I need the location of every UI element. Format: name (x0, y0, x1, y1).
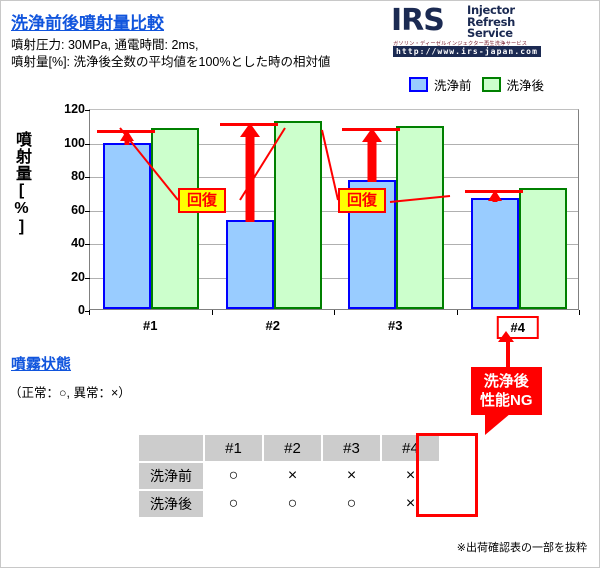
spray-section-title: 噴霧状態 (11, 353, 71, 374)
legend-swatch-before-icon (409, 77, 428, 92)
table-cell-before-1: ○ (204, 462, 263, 490)
x-axis-label-1: #1 (143, 318, 157, 333)
legend-item-before: 洗浄前 (409, 75, 472, 94)
y-axis-tick-label: 20 (71, 270, 85, 284)
callout-stem (506, 341, 510, 369)
legend-label-after: 洗浄後 (507, 75, 545, 94)
legend-swatch-after-icon (482, 77, 501, 92)
connector-line (120, 128, 178, 200)
page-subtitle: 噴射圧力: 30MPa, 通電時間: 2ms, 噴射量[%]: 洗浄後全数の平均… (11, 37, 330, 71)
table-cell-after-2: ○ (263, 490, 322, 518)
callout-line-1: 洗浄後 (480, 372, 533, 391)
spray-result-table: #1 #2 #3 #4 洗浄前 ○ × × × 洗浄後 ○ ○ ○ × (137, 433, 441, 519)
y-axis-tick-label: 0 (78, 303, 85, 317)
logo-mark-text: IRS (391, 6, 444, 36)
subtitle-line-1: 噴射圧力: 30MPa, 通電時間: 2ms, (11, 37, 330, 54)
legend-item-after: 洗浄後 (482, 75, 545, 94)
table-cell-before-3: × (322, 462, 381, 490)
table-header-4: #4 (381, 434, 440, 462)
logo-wordmark: Injector Refresh Service (467, 5, 515, 40)
table-row-label-after: 洗浄後 (138, 490, 204, 518)
connector-line (390, 196, 450, 202)
table-corner-cell (138, 434, 204, 462)
legend-label-before: 洗浄前 (434, 75, 472, 94)
chart-legend: 洗浄前 洗浄後 (409, 75, 544, 94)
logo-word-service: Service (467, 28, 515, 40)
y-axis-tick-label: 80 (71, 169, 85, 183)
y-axis-tick-label: 100 (64, 136, 85, 150)
table-header-1: #1 (204, 434, 263, 462)
table-cell-before-4: × (381, 462, 440, 490)
x-axis-label-3: #3 (388, 318, 402, 333)
connector-line (240, 128, 285, 200)
table-row: 洗浄前 ○ × × × (138, 462, 440, 490)
recovery-label-1: 回復 (178, 188, 226, 213)
callout-tail-icon (485, 413, 511, 435)
table-header-row: #1 #2 #3 #4 (138, 434, 440, 462)
table-header-2: #2 (263, 434, 322, 462)
table-cell-after-3: ○ (322, 490, 381, 518)
callout-line-2: 性能NG (480, 391, 533, 410)
table-row: 洗浄後 ○ ○ ○ × (138, 490, 440, 518)
y-axis-labels: 020406080100120 (51, 101, 85, 317)
x-axis-label-2: #2 (266, 318, 280, 333)
table-row-label-before: 洗浄前 (138, 462, 204, 490)
recovery-connector-lines (90, 110, 580, 311)
irs-logo: IRS Injector Refresh Service ガソリン・ディーゼルイ… (391, 6, 591, 54)
connector-line (322, 130, 338, 200)
chart-plot-area: 回復回復 (89, 109, 579, 310)
footnote: ※出荷確認表の一部を抜粋 (457, 539, 587, 555)
table-header-3: #3 (322, 434, 381, 462)
page-root: 洗浄前後噴射量比較 噴射圧力: 30MPa, 通電時間: 2ms, 噴射量[%]… (0, 0, 600, 568)
recovery-label-2: 回復 (338, 188, 386, 213)
y-axis-tick-label: 40 (71, 236, 85, 250)
page-title: 洗浄前後噴射量比較 (11, 9, 164, 34)
table-cell-before-2: × (263, 462, 322, 490)
callout-stem-arrow-icon (498, 331, 514, 342)
table-cell-after-1: ○ (204, 490, 263, 518)
subtitle-line-2: 噴射量[%]: 洗浄後全数の平均値を100%とした時の相対値 (11, 54, 330, 71)
y-axis-tick-label: 120 (64, 102, 85, 116)
spray-section-legend: （正常：○, 異常：×） (9, 382, 131, 401)
table-cell-after-4: × (381, 490, 440, 518)
y-axis-title: 噴射量[%] (9, 131, 33, 236)
logo-url[interactable]: http://www.irs-japan.com (393, 46, 541, 57)
performance-ng-callout: 洗浄後 性能NG (471, 367, 542, 415)
y-axis-tick-label: 60 (71, 203, 85, 217)
